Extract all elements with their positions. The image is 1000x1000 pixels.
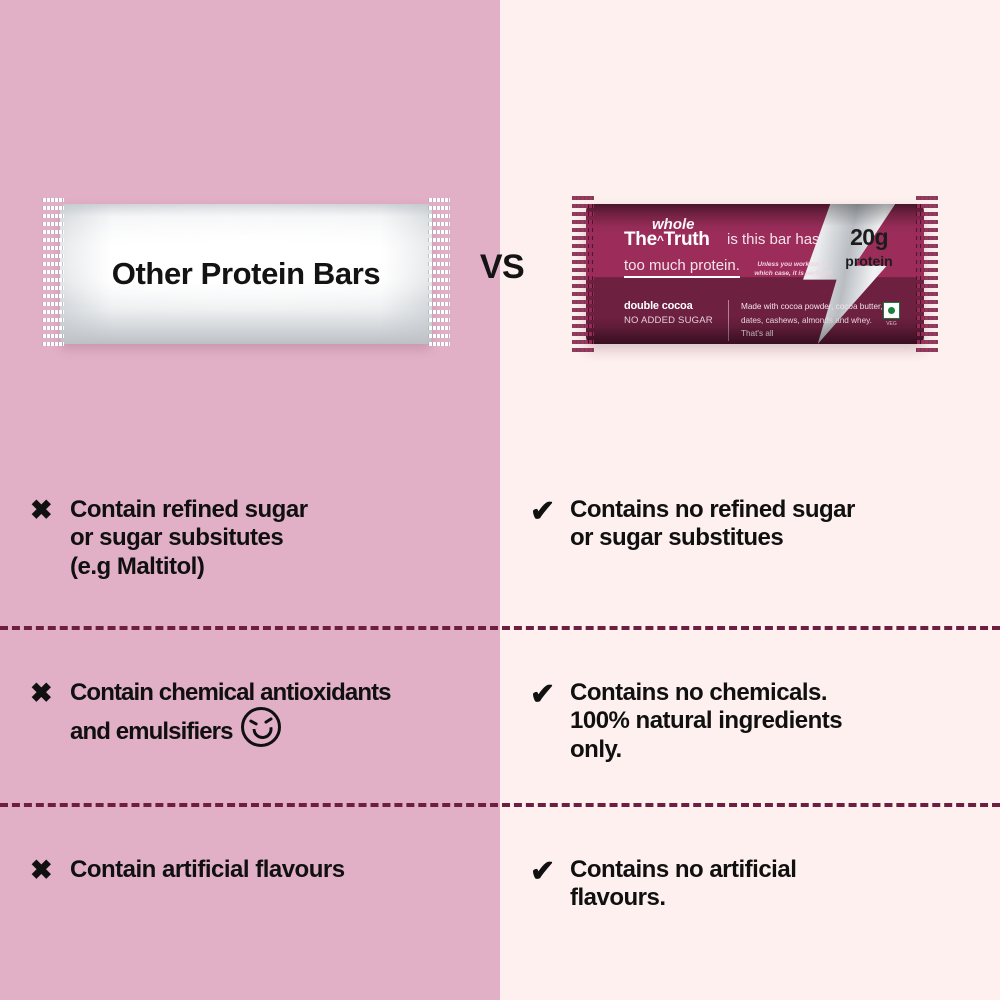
row-divider-2 bbox=[0, 803, 1000, 807]
row-2-left-content: Contain chemical antioxidants and emulsi… bbox=[70, 679, 391, 747]
brand-tagline-line-1: is this bar has bbox=[727, 232, 820, 248]
row-1-right-text: Contains no refined sugar or sugar subst… bbox=[570, 496, 855, 553]
brand-wrapper-crimp-left bbox=[572, 196, 594, 352]
comparison-row-1: ✖ Contain refined sugar or sugar subsitu… bbox=[0, 496, 1000, 581]
ingredients-text: Made with cocoa powder, cocoa butter, da… bbox=[728, 300, 893, 341]
flavour-subtitle: NO ADDED SUGAR bbox=[624, 315, 728, 326]
brand-logo-main: The^Truth bbox=[624, 230, 710, 250]
comparison-row-3: ✖ Contain artificial flavours ✔ Contains… bbox=[0, 856, 1000, 913]
brand-logo-caret: ^ bbox=[657, 233, 664, 247]
cross-icon: ✖ bbox=[30, 679, 70, 707]
confused-face-emoji-icon bbox=[241, 707, 281, 747]
brand-info-strip: double cocoa NO ADDED SUGAR Made with co… bbox=[624, 300, 902, 341]
brand-headline-block: whole The^Truth is this bar has too much… bbox=[624, 220, 824, 250]
row-1-left-text: Contain refined sugar or sugar subsitute… bbox=[70, 496, 308, 581]
brand-handwritten-note: Unless you workout. In which case, it is… bbox=[754, 260, 832, 279]
row-2-left-cell: ✖ Contain chemical antioxidants and emul… bbox=[0, 679, 500, 764]
the-whole-truth-bar-image: whole The^Truth is this bar has too much… bbox=[572, 196, 938, 352]
row-3-right-text: Contains no artificial flavours. bbox=[570, 856, 796, 913]
other-protein-bar-image: Other Protein Bars bbox=[42, 198, 450, 350]
row-2-right-cell: ✔ Contains no chemicals. 100% natural in… bbox=[500, 679, 1000, 764]
cross-icon: ✖ bbox=[30, 496, 70, 524]
brand-logo-the: The bbox=[624, 229, 657, 250]
cross-icon: ✖ bbox=[30, 856, 70, 884]
veg-mark-icon bbox=[883, 302, 900, 319]
brand-tagline-line-2: too much protein. bbox=[624, 258, 740, 278]
comparison-row-2: ✖ Contain chemical antioxidants and emul… bbox=[0, 679, 1000, 764]
flavour-block: double cocoa NO ADDED SUGAR bbox=[624, 300, 728, 326]
row-3-left-cell: ✖ Contain artificial flavours bbox=[0, 856, 500, 913]
protein-word: protein bbox=[833, 254, 905, 268]
check-icon: ✔ bbox=[530, 496, 570, 528]
emoji-eye-left bbox=[248, 719, 257, 726]
brand-wrapper-body: whole The^Truth is this bar has too much… bbox=[586, 204, 924, 344]
brand-wrapper-crimp-right bbox=[916, 196, 938, 352]
row-divider-1 bbox=[0, 626, 1000, 630]
check-icon: ✔ bbox=[530, 679, 570, 711]
flavour-name: double cocoa bbox=[624, 300, 728, 312]
veg-mark-dot bbox=[888, 307, 895, 314]
row-2-right-text: Contains no chemicals. 100% natural ingr… bbox=[570, 679, 842, 764]
protein-amount: 20g bbox=[833, 226, 905, 249]
other-protein-bar-label: Other Protein Bars bbox=[42, 256, 450, 292]
row-3-right-cell: ✔ Contains no artificial flavours. bbox=[500, 856, 1000, 913]
comparison-infographic: Other Protein Bars VS whole The^Truth is… bbox=[0, 0, 1000, 1000]
brand-logo-truth: Truth bbox=[664, 229, 710, 250]
veg-mark-caption: VEG bbox=[883, 321, 900, 327]
protein-content-badge: 20g protein bbox=[833, 226, 905, 268]
row-2-left-text: Contain chemical antioxidants and emulsi… bbox=[70, 679, 391, 745]
row-3-left-text: Contain artificial flavours bbox=[70, 856, 345, 884]
emoji-mouth bbox=[252, 727, 273, 740]
emoji-eye-right bbox=[263, 717, 272, 724]
row-1-left-cell: ✖ Contain refined sugar or sugar subsitu… bbox=[0, 496, 500, 581]
check-icon: ✔ bbox=[530, 856, 570, 888]
vegetarian-mark: VEG bbox=[883, 302, 900, 327]
row-1-right-cell: ✔ Contains no refined sugar or sugar sub… bbox=[500, 496, 1000, 581]
vs-label: VS bbox=[474, 248, 530, 287]
